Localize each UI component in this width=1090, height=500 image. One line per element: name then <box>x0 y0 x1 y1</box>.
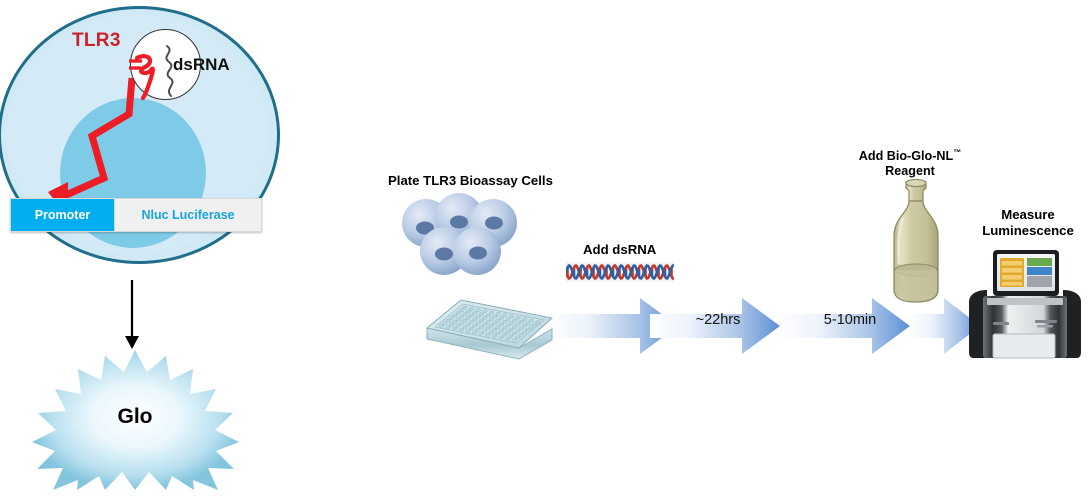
step-3-label-line1: Add Bio-Glo-NL <box>859 149 953 163</box>
tlr3-label: TLR3 <box>72 30 121 52</box>
dsrna-double-helix-icon <box>566 262 674 282</box>
step-3-label-line2: Reagent <box>885 164 935 178</box>
reagent-bottle-icon <box>886 178 946 304</box>
step-4-label-line2: Luminescence <box>982 223 1074 238</box>
trademark-symbol: ™ <box>953 148 961 157</box>
reporter-construct: Promoter Nluc Luciferase <box>10 198 262 232</box>
reagent-read-time-label: 5-10min <box>795 312 905 328</box>
tlr3-mechanism-panel: TLR3 dsRNA Promoter Nluc Luciferase <box>0 0 300 500</box>
luminometer-icon <box>967 248 1083 360</box>
promoter-segment: Promoter <box>10 198 115 232</box>
step-4-label-line1: Measure <box>1001 207 1055 222</box>
nluc-luciferase-segment: Nluc Luciferase <box>115 198 262 232</box>
dsrna-label: dsRNA <box>173 55 230 75</box>
down-arrow-icon <box>120 280 144 350</box>
step-3-label: Add Bio-Glo-NL™Reagent <box>840 145 980 179</box>
step-4-label: MeasureLuminescence <box>968 207 1088 239</box>
incubation-time-label: ~22hrs <box>663 312 773 328</box>
microplate-96-well-icon <box>425 288 553 360</box>
glo-label: Glo <box>30 405 240 429</box>
step-1-label: Plate TLR3 Bioassay Cells <box>388 173 553 188</box>
promoter-label: Promoter <box>35 208 91 222</box>
cells-cluster-icon <box>400 193 520 281</box>
step-2-label: Add dsRNA <box>583 242 656 257</box>
nluc-luciferase-label: Nluc Luciferase <box>141 208 234 222</box>
